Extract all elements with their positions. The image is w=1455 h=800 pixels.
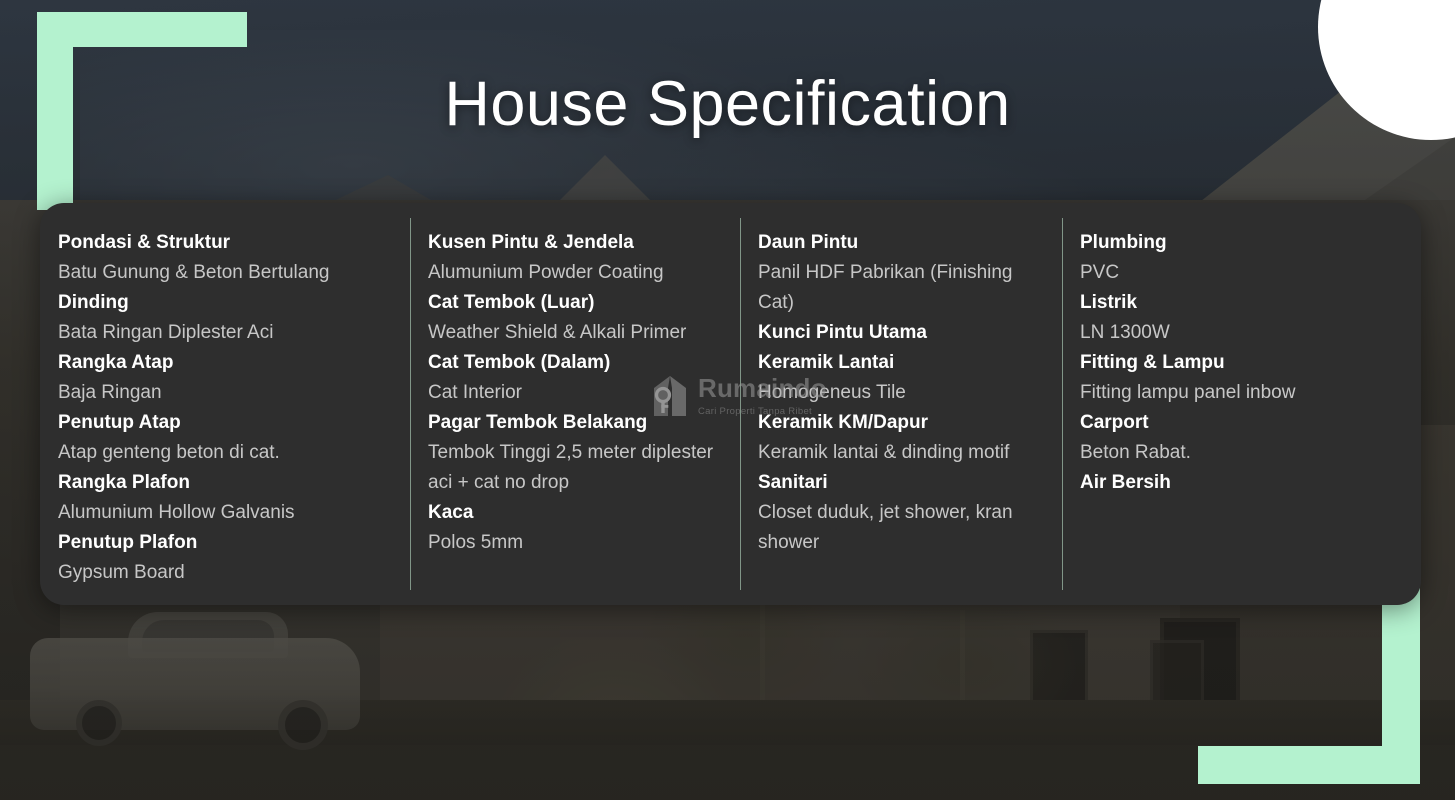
spec-label: Rangka Plafon <box>58 468 394 498</box>
spec-value: Fitting lampu panel inbow <box>1080 378 1405 408</box>
spec-value: Alumunium Powder Coating <box>428 258 724 288</box>
spec-label: Cat Tembok (Dalam) <box>428 348 724 378</box>
spec-value: Panil HDF Pabrikan (Finishing Cat) <box>758 258 1046 318</box>
spec-value: Tembok Tinggi 2,5 meter diplester aci + … <box>428 438 724 498</box>
spec-value: Bata Ringan Diplester Aci <box>58 318 394 348</box>
spec-value: Homogeneus Tile <box>758 378 1046 408</box>
spec-value: Closet duduk, jet shower, kran shower <box>758 498 1046 558</box>
slide-canvas: House Specification Pondasi & Struktur B… <box>0 0 1455 800</box>
spec-value: Gypsum Board <box>58 558 394 588</box>
spec-column-1: Pondasi & Struktur Batu Gunung & Beton B… <box>40 203 410 605</box>
spec-label: Keramik KM/Dapur <box>758 408 1046 438</box>
spec-label: Penutup Atap <box>58 408 394 438</box>
spec-value: LN 1300W <box>1080 318 1405 348</box>
spec-label: Sanitari <box>758 468 1046 498</box>
spec-label: Penutup Plafon <box>58 528 394 558</box>
spec-value: Alumunium Hollow Galvanis <box>58 498 394 528</box>
spec-value: Atap genteng beton di cat. <box>58 438 394 468</box>
spec-label: Carport <box>1080 408 1405 438</box>
spec-value: PVC <box>1080 258 1405 288</box>
decorative-bracket-bottom-right-vertical <box>1382 586 1420 784</box>
spec-label: Keramik Lantai <box>758 348 1046 378</box>
spec-label: Fitting & Lampu <box>1080 348 1405 378</box>
spec-value: Polos 5mm <box>428 528 724 558</box>
spec-label: Rangka Atap <box>58 348 394 378</box>
spec-label: Dinding <box>58 288 394 318</box>
page-title: House Specification <box>0 68 1455 140</box>
spec-value: Baja Ringan <box>58 378 394 408</box>
spec-label: Listrik <box>1080 288 1405 318</box>
spec-label: Air Bersih <box>1080 468 1405 498</box>
spec-column-2: Kusen Pintu & Jendela Alumunium Powder C… <box>410 203 740 605</box>
spec-value: Batu Gunung & Beton Bertulang <box>58 258 394 288</box>
spec-label: Kaca <box>428 498 724 528</box>
spec-column-4: Plumbing PVC Listrik LN 1300W Fitting & … <box>1062 203 1421 605</box>
spec-value: Keramik lantai & dinding motif <box>758 438 1046 468</box>
spec-label: Daun Pintu <box>758 228 1046 258</box>
specification-card: Pondasi & Struktur Batu Gunung & Beton B… <box>40 203 1421 605</box>
spec-label: Cat Tembok (Luar) <box>428 288 724 318</box>
spec-label: Pondasi & Struktur <box>58 228 394 258</box>
spec-value: Weather Shield & Alkali Primer <box>428 318 724 348</box>
spec-label: Pagar Tembok Belakang <box>428 408 724 438</box>
spec-value: Cat Interior <box>428 378 724 408</box>
spec-label: Kusen Pintu & Jendela <box>428 228 724 258</box>
spec-value: Beton Rabat. <box>1080 438 1405 468</box>
spec-label: Kunci Pintu Utama <box>758 318 1046 348</box>
spec-column-3: Daun Pintu Panil HDF Pabrikan (Finishing… <box>740 203 1062 605</box>
spec-label: Plumbing <box>1080 228 1405 258</box>
